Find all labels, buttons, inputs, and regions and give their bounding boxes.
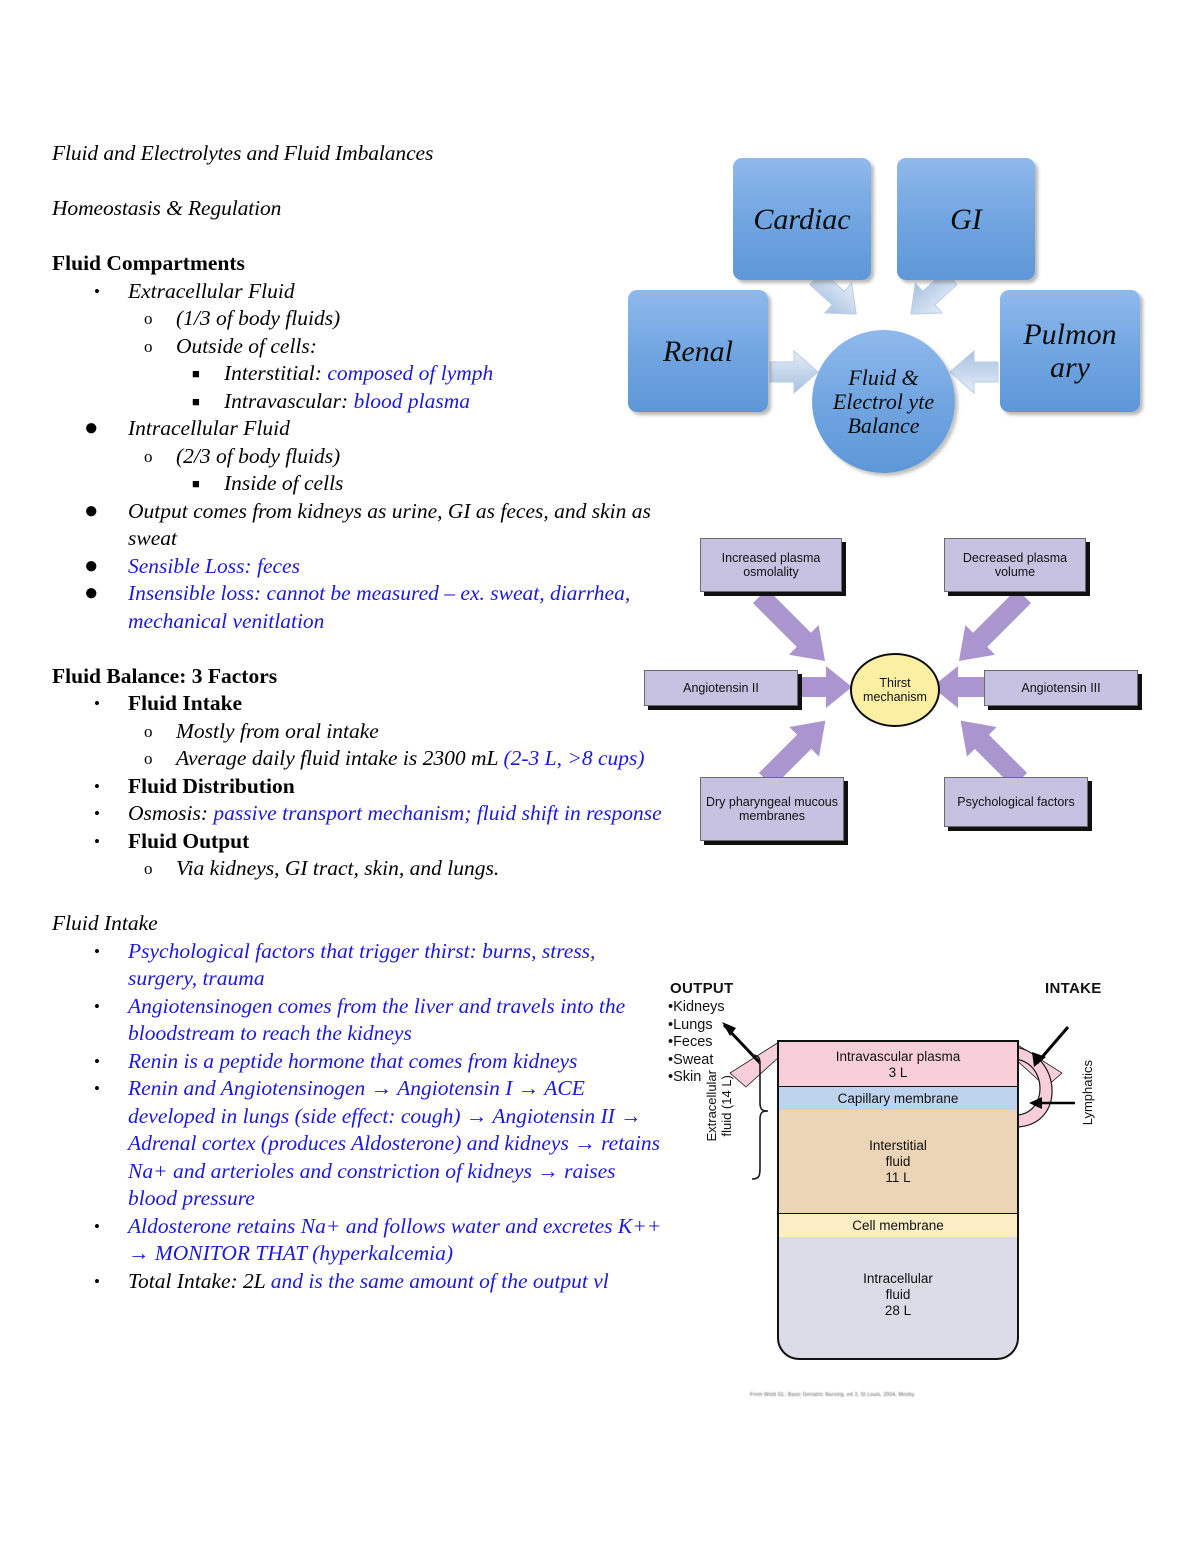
spacer (52, 883, 664, 911)
list-item: • Angiotensinogen comes from the liver a… (52, 993, 664, 1048)
list-item-text: (1/3 of body fluids) (176, 306, 340, 330)
list-item-annotation: Sensible Loss: feces (128, 554, 300, 578)
list-item: o Via kidneys, GI tract, skin, and lungs… (52, 855, 664, 883)
list-item-text: Fluid Output (128, 829, 249, 853)
list-item: • Renin is a peptide hormone that comes … (52, 1048, 664, 1076)
bullet-dot-icon: • (94, 1268, 100, 1296)
document-subtitle: Homeostasis & Regulation (52, 195, 664, 223)
bullet-square-icon: ■ (192, 470, 200, 498)
list-item: • Fluid Distribution (52, 773, 664, 801)
bullet-dot-icon: • (94, 828, 100, 856)
list-item-text: Outside of cells: (176, 334, 317, 358)
list-item: ■ Intravascular: blood plasma (52, 388, 664, 416)
node-fluid-electrolyte-balance: Fluid & Electrol yte Balance (812, 330, 955, 473)
bullet-dot-icon: • (94, 1048, 100, 1076)
document-title: Fluid and Electrolytes and Fluid Imbalan… (52, 140, 664, 168)
list-item-text: Fluid Distribution (128, 774, 295, 798)
list-item-annotation: Angiotensinogen comes from the liver and… (128, 994, 625, 1046)
spacer (52, 635, 664, 663)
list-item: • Fluid Output (52, 828, 664, 856)
intake-title: INTAKE (1045, 980, 1102, 997)
node-pulmonary: Pulmon ary (1000, 290, 1140, 412)
list-item-text: Intravascular: (224, 389, 354, 413)
lymphatics-label: Lymphatics (1080, 1060, 1095, 1125)
thirst-box-angiotensin-iii: Angiotensin III (984, 670, 1138, 706)
bullet-dot-icon: • (94, 800, 100, 828)
list-item-annotation: blood plasma (354, 389, 470, 413)
bullet-square-icon: ■ (192, 360, 200, 388)
output-title: OUTPUT (670, 980, 733, 997)
bullet-dot-icon: • (94, 1213, 100, 1241)
list-item-annotation: Psychological factors that trigger thirs… (128, 939, 595, 991)
node-cardiac: Cardiac (733, 158, 871, 280)
bullet-filled-circle-icon: ● (84, 553, 99, 581)
band-capillary-membrane: Capillary membrane (777, 1086, 1019, 1112)
thirst-box-angiotensin-ii: Angiotensin II (644, 670, 798, 706)
bullet-dot-icon: • (94, 993, 100, 1021)
list-item: • Psychological factors that trigger thi… (52, 938, 664, 993)
bullet-circle-icon: o (144, 305, 153, 333)
list-item: • Extracellular Fluid (52, 278, 664, 306)
list-item: ■ Interstitial: composed of lymph (52, 360, 664, 388)
node-gi: GI (897, 158, 1035, 280)
spacer (52, 168, 664, 196)
list-item: • Total Intake: 2L and is the same amoun… (52, 1268, 664, 1296)
list-item-annotation: Aldosterone retains Na+ and follows wate… (128, 1214, 661, 1266)
list-item-annotation: Renin and Angiotensinogen → Angiotensin … (128, 1076, 660, 1210)
intracellular-fluid-label: Intracellular fluid 28 L (779, 1271, 1017, 1319)
list-item-text: Fluid Intake (128, 691, 242, 715)
thirst-mechanism-node: Thirst mechanism (850, 653, 940, 727)
list-item: o Mostly from oral intake (52, 718, 664, 746)
fluid-compartment-tank: Intravascular plasma 3 L Capillary membr… (777, 1040, 1015, 1358)
bullet-dot-icon: • (94, 1075, 100, 1103)
list-item-text: Mostly from oral intake (176, 719, 379, 743)
bullet-filled-circle-icon: ● (84, 498, 99, 526)
list-item: o Outside of cells: (52, 333, 664, 361)
band-intracellular-fluid: Intracellular fluid 28 L (777, 1237, 1019, 1360)
bullet-dot-icon: • (94, 690, 100, 718)
list-item-annotation: (2-3 L, >8 cups) (503, 746, 644, 770)
bullet-dot-icon: • (94, 938, 100, 966)
list-item-text: Average daily fluid intake is 2300 mL (176, 746, 503, 770)
list-item-text: Via kidneys, GI tract, skin, and lungs. (176, 856, 499, 880)
list-item: o (2/3 of body fluids) (52, 443, 664, 471)
band-intravascular-plasma: Intravascular plasma 3 L (777, 1040, 1019, 1088)
diagram-fluid-compartments: OUTPUT •Kidneys •Lungs •Feces •Sweat •Sk… (660, 975, 1140, 1420)
list-item-text: Total Intake: 2L (128, 1269, 271, 1293)
bullet-circle-icon: o (144, 333, 153, 361)
list-item: • Osmosis: passive transport mechanism; … (52, 800, 664, 828)
thirst-box-psychological-factors: Psychological factors (944, 777, 1088, 827)
bullet-circle-icon: o (144, 855, 153, 883)
list-item: ■ Inside of cells (52, 470, 664, 498)
bullet-circle-icon: o (144, 745, 153, 773)
list-item-annotation: passive transport mechanism; fluid shift… (213, 801, 661, 825)
bullet-filled-circle-icon: ● (84, 415, 99, 443)
list-item: ● Insensible loss: cannot be measured – … (52, 580, 664, 635)
list-item: ● Sensible Loss: feces (52, 553, 664, 581)
thirst-box-dry-membranes: Dry pharyngeal mucous membranes (700, 777, 844, 841)
list-item-annotation: Renin is a peptide hormone that comes fr… (128, 1049, 577, 1073)
heading-fluid-intake: Fluid Intake (52, 910, 664, 938)
list-item-annotation: composed of lymph (327, 361, 493, 385)
bullet-circle-icon: o (144, 718, 153, 746)
bullet-circle-icon: o (144, 443, 153, 471)
bullet-square-icon: ■ (192, 388, 200, 416)
notes-column: Fluid and Electrolytes and Fluid Imbalan… (52, 140, 664, 1295)
diagram-fluid-electrolyte-balance: Cardiac GI Renal Pulmon ary Fluid & Elec… (620, 150, 1180, 480)
list-item: o (1/3 of body fluids) (52, 305, 664, 333)
thirst-box-increased-osmolality: Increased plasma osmolality (700, 538, 842, 592)
spacer (52, 223, 664, 251)
list-item-text: (2/3 of body fluids) (176, 444, 340, 468)
diagram-thirst-mechanism: Increased plasma osmolality Decreased pl… (632, 522, 1148, 862)
list-item-annotation: and is the same amount of the output vl (271, 1269, 609, 1293)
list-item-text: Inside of cells (224, 471, 343, 495)
list-item: ● Intracellular Fluid (52, 415, 664, 443)
node-renal: Renal (628, 290, 768, 412)
heading-fluid-compartments: Fluid Compartments (52, 250, 664, 278)
band-interstitial-fluid: Interstitial fluid 11 L (777, 1110, 1019, 1213)
list-item-text: Intracellular Fluid (128, 416, 290, 440)
list-item: ● Output comes from kidneys as urine, GI… (52, 498, 664, 553)
source-caption: From Wold GL: Basic Geriatric Nursing, e… (750, 1392, 1050, 1398)
bullet-filled-circle-icon: ● (84, 580, 99, 608)
list-item: o Average daily fluid intake is 2300 mL … (52, 745, 664, 773)
list-item: • Aldosterone retains Na+ and follows wa… (52, 1213, 664, 1268)
list-item-annotation: Insensible loss: cannot be measured – ex… (128, 581, 630, 633)
band-cell-membrane: Cell membrane (777, 1213, 1019, 1239)
bullet-dot-icon: • (94, 278, 100, 306)
thirst-box-decreased-volume: Decreased plasma volume (944, 538, 1086, 592)
list-item-text: Osmosis: (128, 801, 213, 825)
bullet-dot-icon: • (94, 773, 100, 801)
heading-fluid-balance: Fluid Balance: 3 Factors (52, 663, 664, 691)
list-item-text: Output comes from kidneys as urine, GI a… (128, 499, 651, 551)
document-page: Fluid and Electrolytes and Fluid Imbalan… (0, 0, 1200, 1553)
extracellular-fluid-label: Extracellular fluid (14 L) (704, 1070, 734, 1142)
list-item: • Renin and Angiotensinogen → Angiotensi… (52, 1075, 664, 1213)
list-item-text: Interstitial: (224, 361, 327, 385)
list-item: • Fluid Intake (52, 690, 664, 718)
list-item-text: Extracellular Fluid (128, 279, 295, 303)
